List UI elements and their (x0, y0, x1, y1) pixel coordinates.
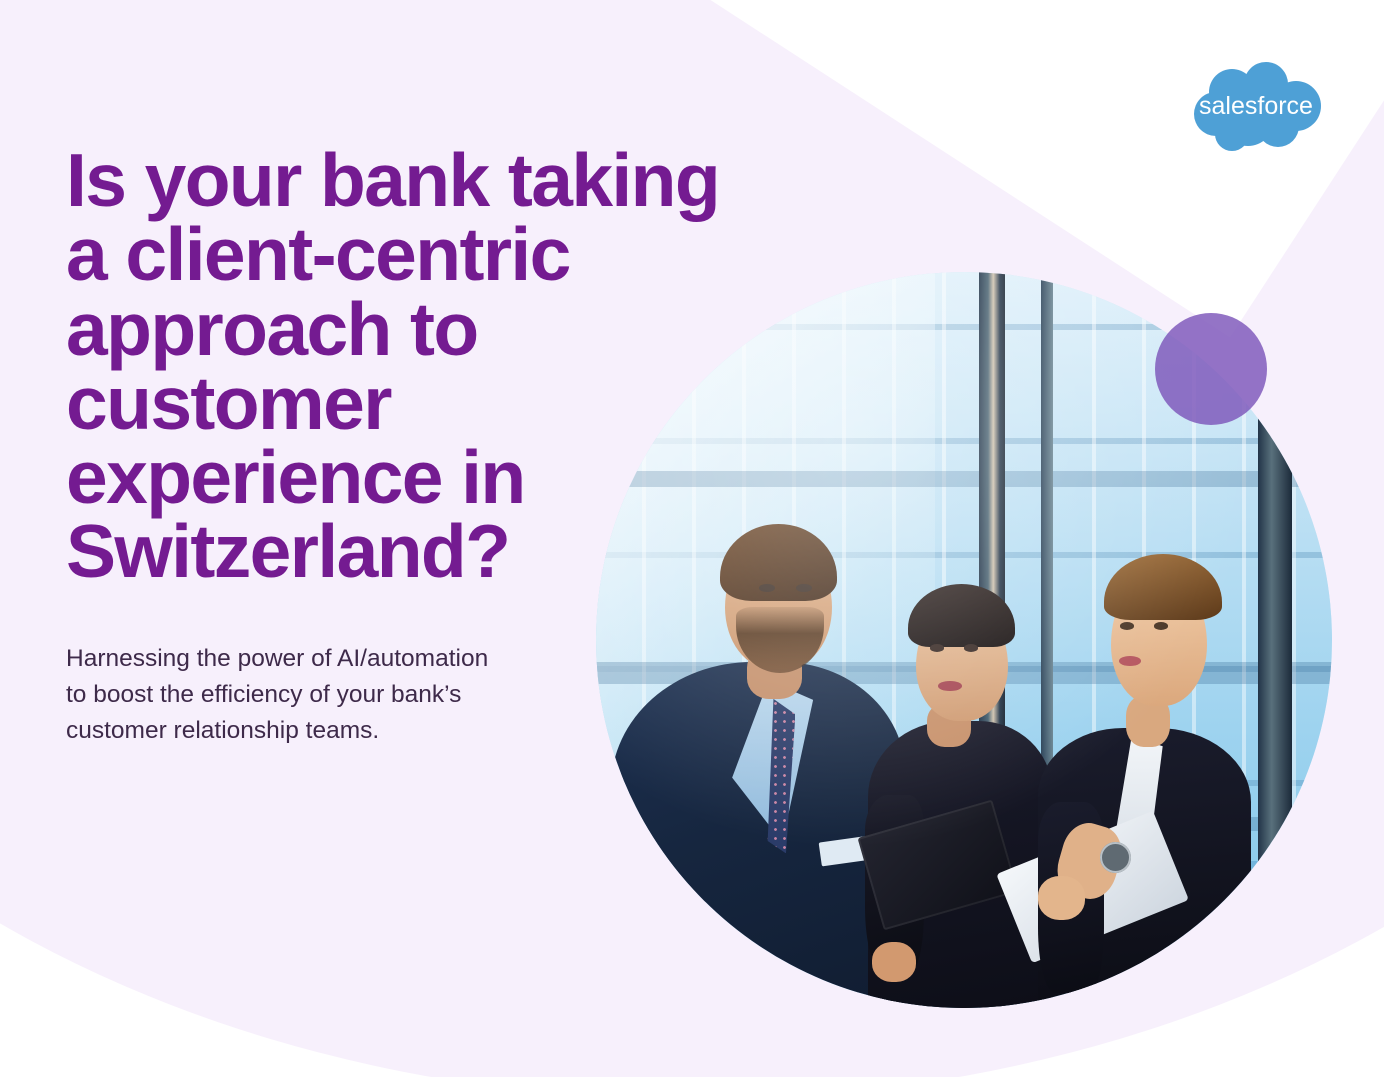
cover-page: salesforce Is your bank taking a client-… (0, 0, 1384, 1077)
person-three-eye (1154, 622, 1168, 629)
purple-accent-circle (1155, 313, 1267, 425)
page-subtitle: Harnessing the power of AI/automation to… (66, 641, 586, 748)
person-two-eye (930, 644, 944, 651)
salesforce-wordmark: salesforce (1199, 92, 1313, 120)
person-two-lips (938, 681, 962, 691)
salesforce-cloud-logo: salesforce (1188, 62, 1324, 158)
person-one-hand (673, 920, 728, 972)
person-two-eye (964, 644, 978, 651)
page-title: Is your bank taking a client-centric app… (66, 143, 806, 589)
person-three-lips (1119, 656, 1141, 666)
person-two-hand (872, 942, 916, 982)
person-three-hand (1038, 876, 1086, 920)
person-three-eye (1120, 622, 1134, 629)
